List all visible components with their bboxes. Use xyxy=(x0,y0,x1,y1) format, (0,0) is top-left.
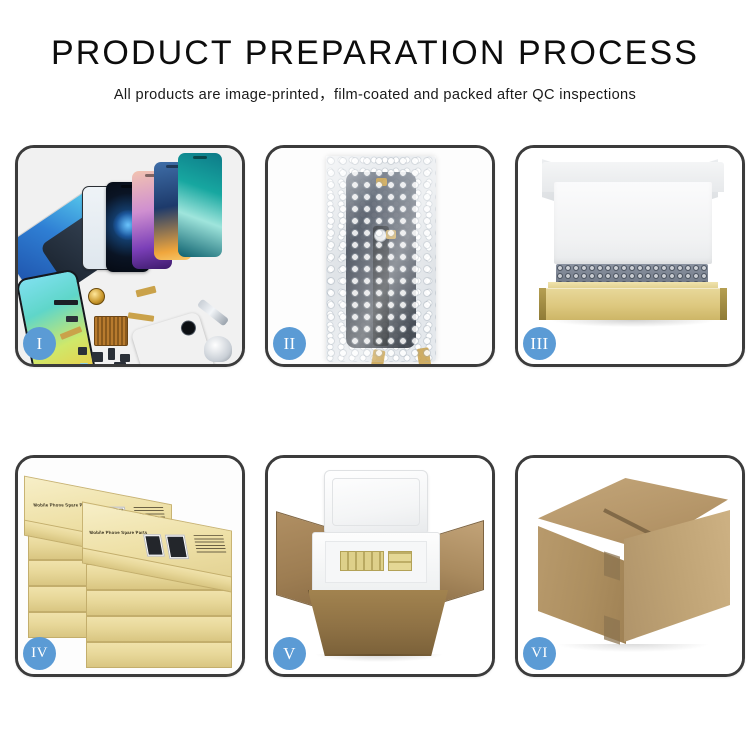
carton-tape-icon xyxy=(604,551,620,580)
box-label-window xyxy=(165,535,189,559)
flex-cable-icon xyxy=(373,226,389,346)
box-label-window xyxy=(143,534,165,556)
process-step-panel-5[interactable]: V xyxy=(265,455,495,677)
box-label-text: Mobile Phone Spare Parts xyxy=(89,530,148,535)
carton-tape-icon xyxy=(604,615,620,644)
foam-sheet-icon xyxy=(554,182,712,264)
small-component-icon xyxy=(78,347,87,355)
page-subtitle: All products are image-printed，film-coat… xyxy=(0,83,750,104)
step-badge: V xyxy=(273,637,306,670)
flex-cable-icon xyxy=(135,286,156,298)
process-step-grid: I II xyxy=(15,145,735,677)
bubble-wrap-bag-icon xyxy=(326,156,436,362)
step-badge: III xyxy=(523,327,556,360)
page-title: PRODUCT PREPARATION PROCESS xyxy=(0,36,750,72)
stacked-box-side xyxy=(86,642,232,668)
step-badge: VI xyxy=(523,637,556,670)
stacked-box-side xyxy=(86,590,232,616)
small-component-icon xyxy=(80,363,88,364)
step-badge: II xyxy=(273,327,306,360)
wrapped-part-icon xyxy=(346,172,416,348)
drop-shadow xyxy=(316,654,442,662)
vibrator-bar-icon xyxy=(54,300,78,305)
step-badge: I xyxy=(23,327,56,360)
box-label-specs xyxy=(194,535,227,553)
carton-front-panel xyxy=(308,590,448,656)
screwdriver-icon xyxy=(204,336,232,362)
kraft-boxes-stack-right xyxy=(388,551,412,571)
styrofoam-cavity xyxy=(325,541,427,583)
step-badge: IV xyxy=(23,637,56,670)
box-stack: Mobile Phone Spare Parts Mobile Phone Sp… xyxy=(24,476,242,666)
drop-shadow xyxy=(552,320,714,327)
drop-shadow xyxy=(558,644,708,652)
chip-grid-icon xyxy=(94,316,128,346)
gold-connector-icon xyxy=(376,178,387,186)
process-step-panel-1[interactable]: I xyxy=(15,145,245,367)
phone-teal-display-icon xyxy=(178,153,222,257)
gold-connector-icon xyxy=(386,230,396,239)
small-component-icon xyxy=(92,352,103,362)
speaker-module-icon xyxy=(88,288,105,305)
tweezers-icon xyxy=(197,298,229,326)
small-component-icon xyxy=(108,348,115,360)
stacked-box-side xyxy=(86,616,232,642)
kraft-box-front-icon xyxy=(540,288,726,320)
small-component-icon xyxy=(120,354,130,362)
small-component-icon xyxy=(66,316,78,322)
styrofoam-lid-icon xyxy=(324,470,428,536)
process-step-panel-2[interactable]: II xyxy=(265,145,495,367)
page-header: PRODUCT PREPARATION PROCESS All products… xyxy=(0,0,750,104)
process-step-panel-4[interactable]: Mobile Phone Spare Parts Mobile Phone Sp… xyxy=(15,455,245,677)
gold-connector-icon xyxy=(371,349,386,364)
gold-connector-icon xyxy=(417,347,432,364)
process-step-panel-6[interactable]: VI xyxy=(515,455,745,677)
kraft-boxes-stack-left xyxy=(340,551,384,571)
flex-cable-icon xyxy=(128,312,155,322)
process-step-panel-3[interactable]: III xyxy=(515,145,745,367)
small-component-icon xyxy=(114,362,126,364)
